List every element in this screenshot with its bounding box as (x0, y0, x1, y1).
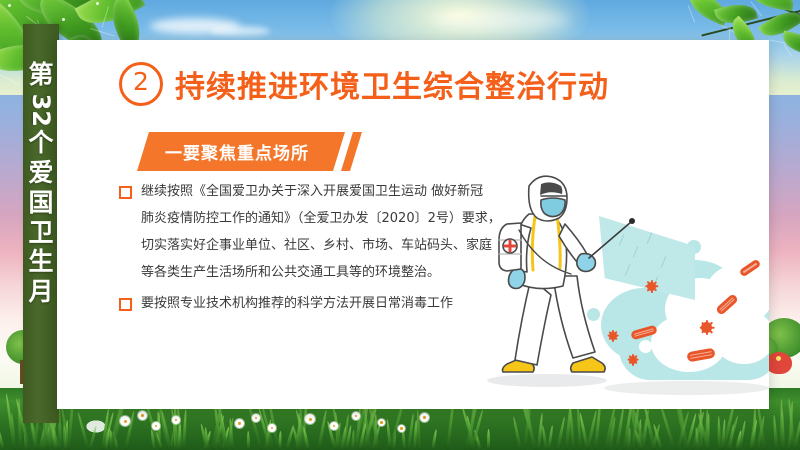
daisy-flower (420, 413, 429, 422)
side-char-5: 生 (28, 247, 53, 277)
section-number-badge: 2 (119, 62, 163, 106)
grass-blade (541, 425, 548, 450)
daisy-flower (138, 411, 147, 420)
daisy-flower (398, 425, 405, 432)
grass-blade (247, 431, 250, 450)
daisy-flower (172, 416, 180, 424)
grass-blade (431, 429, 438, 450)
side-title-band: 第 32 个 爱 国 卫 生 月 (23, 24, 59, 423)
daisy-flower (378, 419, 385, 426)
content-card: 2 持续推进环境卫生综合整治行动 一要聚焦重点场所 继续按照《全国爱卫办关于深入… (57, 40, 769, 409)
germ-virus-icon (701, 322, 712, 333)
sky-cloud-3 (430, 10, 570, 30)
grass-blade (780, 399, 783, 450)
side-char-2: 爱 (28, 158, 53, 188)
daisy-flower (235, 419, 244, 428)
slide-canvas: 第 32 个 爱 国 卫 生 月 2 持续推进环境卫生综合整治行动 一要聚焦重点… (0, 0, 800, 450)
grass-blade (773, 415, 778, 450)
side-char-6: 月 (28, 277, 53, 307)
side-char-0: 第 (28, 60, 53, 90)
page-title: 持续推进环境卫生综合整治行动 (175, 62, 609, 106)
section-banner-body: 一要聚焦重点场所 (137, 132, 345, 171)
side-char-1: 个 (28, 128, 53, 158)
bullet-2-paragraph: 要按照专业技术机构推荐的科学方法开展日常消毒工作 (141, 290, 453, 317)
daisy-flower (268, 424, 276, 432)
germ-virus-icon (647, 282, 656, 291)
square-bullet-icon (119, 298, 132, 311)
side-number: 32 (27, 93, 56, 126)
bullet-2-line-1: 要按照专业技术机构推荐的科学方法开展日常消毒工作 (141, 290, 453, 317)
daisy-flower (330, 422, 338, 430)
ppe-worker-figure (485, 166, 635, 386)
grass-blade (182, 409, 187, 450)
daisy-flower (305, 414, 315, 424)
sky-cloud-2 (210, 26, 270, 36)
grass-blade (0, 425, 5, 450)
section-banner-slash (341, 132, 362, 171)
grass-blade (317, 409, 328, 450)
side-char-4: 卫 (28, 218, 53, 248)
side-char-3: 国 (28, 188, 53, 218)
grass-blade (569, 407, 575, 450)
section-banner: 一要聚焦重点场所 (143, 132, 356, 171)
grass-blade (717, 416, 721, 450)
section-banner-label: 一要聚焦重点场所 (165, 139, 309, 164)
bullet-1-line-4: 等各类生产生活场所和公共交通工具等的环境整治。 (141, 259, 501, 286)
bullet-1-paragraph: 继续按照《全国爱卫办关于深入开展爱国卫生运动 做好新冠 肺炎疫情防控工作的通知》… (141, 178, 501, 286)
bullet-1-line-2: 肺炎疫情防控工作的通知》（全爱卫办发〔2020〕2号）要求， (141, 205, 501, 232)
bullet-1-line-1: 继续按照《全国爱卫办关于深入开展爱国卫生运动 做好新冠 (141, 178, 501, 205)
disinfection-illustration (469, 160, 769, 409)
title-row: 2 持续推进环境卫生综合整治行动 (119, 62, 609, 106)
daisy-flower (120, 416, 130, 426)
grass-blade (512, 416, 522, 450)
grass-blade (374, 414, 377, 450)
grass-blade (547, 425, 554, 450)
grass-blade (88, 425, 98, 450)
grass-blade (5, 393, 16, 450)
grass-blade (487, 429, 490, 450)
daisy-flower (252, 414, 260, 422)
side-title-vertical-text: 第 32 个 爱 国 卫 生 月 (23, 60, 59, 307)
bullet-1-line-3: 切实落实好企事业单位、社区、乡村、市场、车站码头、家庭 (141, 232, 501, 259)
daisy-flower (152, 422, 160, 430)
square-bullet-icon (119, 186, 132, 199)
daisy-flower (352, 412, 360, 420)
grass-blade (77, 412, 90, 450)
